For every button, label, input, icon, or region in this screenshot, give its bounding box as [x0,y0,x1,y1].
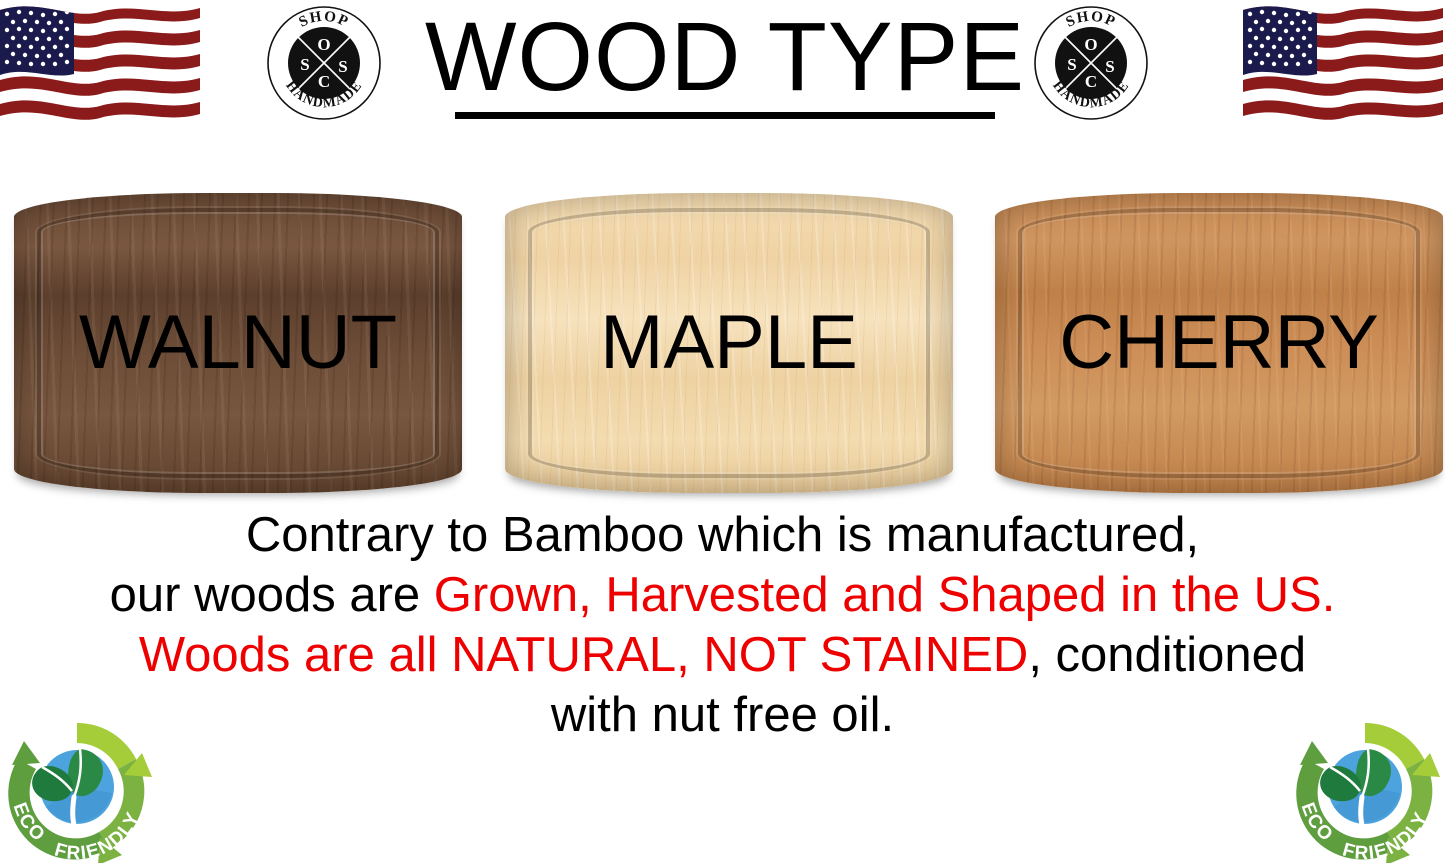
svg-text:O: O [1084,35,1097,54]
board-walnut[interactable]: WALNUT [14,193,462,493]
page-title: WOOD TYPE [425,8,1025,107]
title-underline-rule [455,112,995,119]
copy-line: our woods are Grown, Harvested and Shape… [0,565,1445,625]
wood-sample-gallery: WALNUT MAPLE CHERRY [0,193,1445,498]
copy-line: Woods are all NATURAL, NOT STAINED, cond… [0,625,1445,685]
poster-canvas: O S S C SHOP HANDMADE WOOD TYPE O S S C [0,0,1445,863]
socs-handmade-badge-icon: O S S C SHOP HANDMADE [265,4,383,122]
copy-line: with nut free oil. [0,685,1445,745]
svg-text:S: S [1067,55,1076,74]
marketing-copy: Contrary to Bamboo which is manufactured… [0,505,1445,745]
board-label-maple: MAPLE [505,193,953,493]
socs-handmade-badge-icon: O S S C SHOP HANDMADE [1032,4,1150,122]
copy-segment: , conditioned [1028,628,1306,682]
copy-line: Contrary to Bamboo which is manufactured… [0,505,1445,565]
board-label-cherry: CHERRY [995,193,1443,493]
board-cherry[interactable]: CHERRY [995,193,1443,493]
svg-text:O: O [317,35,330,54]
us-flag-icon [1243,4,1443,132]
copy-segment: with nut free oil. [551,688,894,742]
svg-text:C: C [1085,72,1097,91]
page-title-block: WOOD TYPE [430,8,1020,136]
board-label-walnut: WALNUT [14,193,462,493]
copy-segment-accent: Woods are all NATURAL, NOT STAINED [139,628,1029,682]
eco-friendly-badge-icon: ECO FRIENDLY [1290,715,1440,863]
copy-segment: our woods are [110,568,434,622]
eco-friendly-badge-icon: ECO FRIENDLY [2,715,152,863]
svg-text:S: S [300,55,309,74]
copy-segment-accent: Grown, Harvested and Shaped in the US. [434,568,1336,622]
copy-segment: Contrary to Bamboo which is manufactured… [246,508,1199,562]
svg-text:C: C [318,72,330,91]
us-flag-icon [0,4,200,132]
board-maple[interactable]: MAPLE [505,193,953,493]
svg-text:S: S [1105,57,1114,76]
svg-text:S: S [338,57,347,76]
